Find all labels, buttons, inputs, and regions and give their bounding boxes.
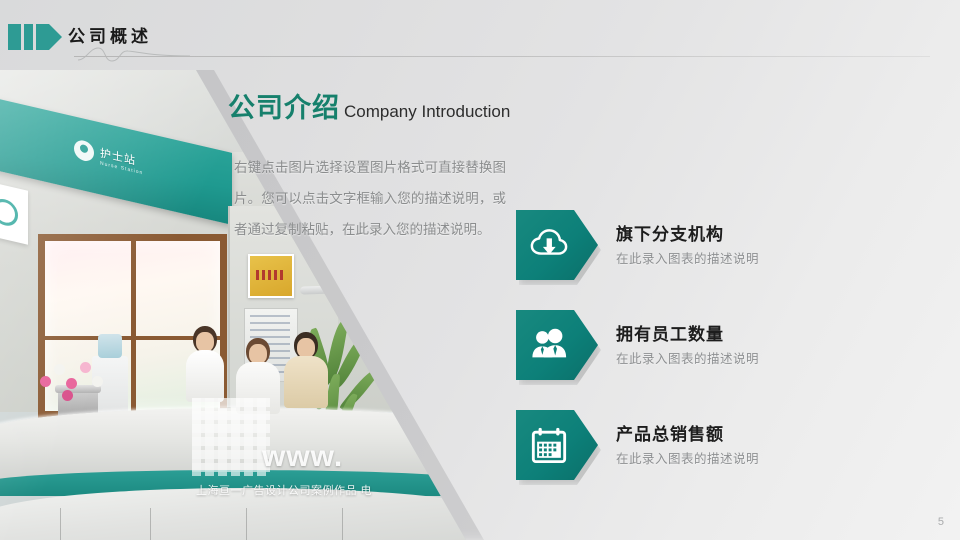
page-number: 5 xyxy=(938,516,944,528)
feature-subtitle: 在此录入图表的描述说明 xyxy=(616,448,759,467)
photo-gold-plaque xyxy=(248,254,294,298)
cloud-download-icon xyxy=(530,226,568,264)
section-title-cn: 公司介绍 xyxy=(228,93,340,123)
feature-subtitle: 在此录入图表的描述说明 xyxy=(616,348,759,367)
squiggle-decoration-icon xyxy=(78,46,190,63)
slide-canvas: 护士站 Nurse Station xyxy=(0,0,960,540)
photo-person-nurse xyxy=(186,326,224,400)
page-title: 公司概述 xyxy=(68,22,152,47)
watermark-url: www. xyxy=(262,440,343,474)
slide-header: 公司概述 xyxy=(0,0,960,62)
feature-item-branches[interactable]: 旗下分支机构 在此录入图表的描述说明 xyxy=(516,210,846,288)
feature-item-sales[interactable]: 产品总销售额 在此录入图表的描述说明 xyxy=(516,410,846,488)
photo-person-visitor xyxy=(284,332,328,406)
section-title-en: Company Introduction xyxy=(344,102,510,121)
feature-title: 旗下分支机构 xyxy=(616,220,724,245)
photo-panel-seam xyxy=(60,508,61,540)
body-paragraph: 右键点击图片选择设置图片格式可直接替换图片。您可以点击文字框输入您的描述说明，或… xyxy=(234,152,506,245)
photo-panel-seam xyxy=(150,508,151,540)
watermark-text: 上海亘一广告设计公司案例作品 电 xyxy=(196,482,372,498)
header-divider xyxy=(74,56,930,57)
feature-title: 产品总销售额 xyxy=(616,420,724,445)
watermark-grid xyxy=(192,398,270,476)
calendar-icon xyxy=(530,426,568,464)
feature-subtitle: 在此录入图表的描述说明 xyxy=(616,248,759,267)
users-group-icon xyxy=(530,326,568,364)
photo-panel-seam xyxy=(246,508,247,540)
photo-panel-seam xyxy=(342,508,343,540)
feature-item-employees[interactable]: 拥有员工数量 在此录入图表的描述说明 xyxy=(516,310,846,388)
three-bars-chevron-icon xyxy=(8,24,66,50)
feature-title: 拥有员工数量 xyxy=(616,320,724,345)
photo-flowers xyxy=(36,356,112,400)
photo-sign-badge-icon xyxy=(74,138,94,163)
section-title: 公司介绍Company Introduction xyxy=(228,86,510,125)
